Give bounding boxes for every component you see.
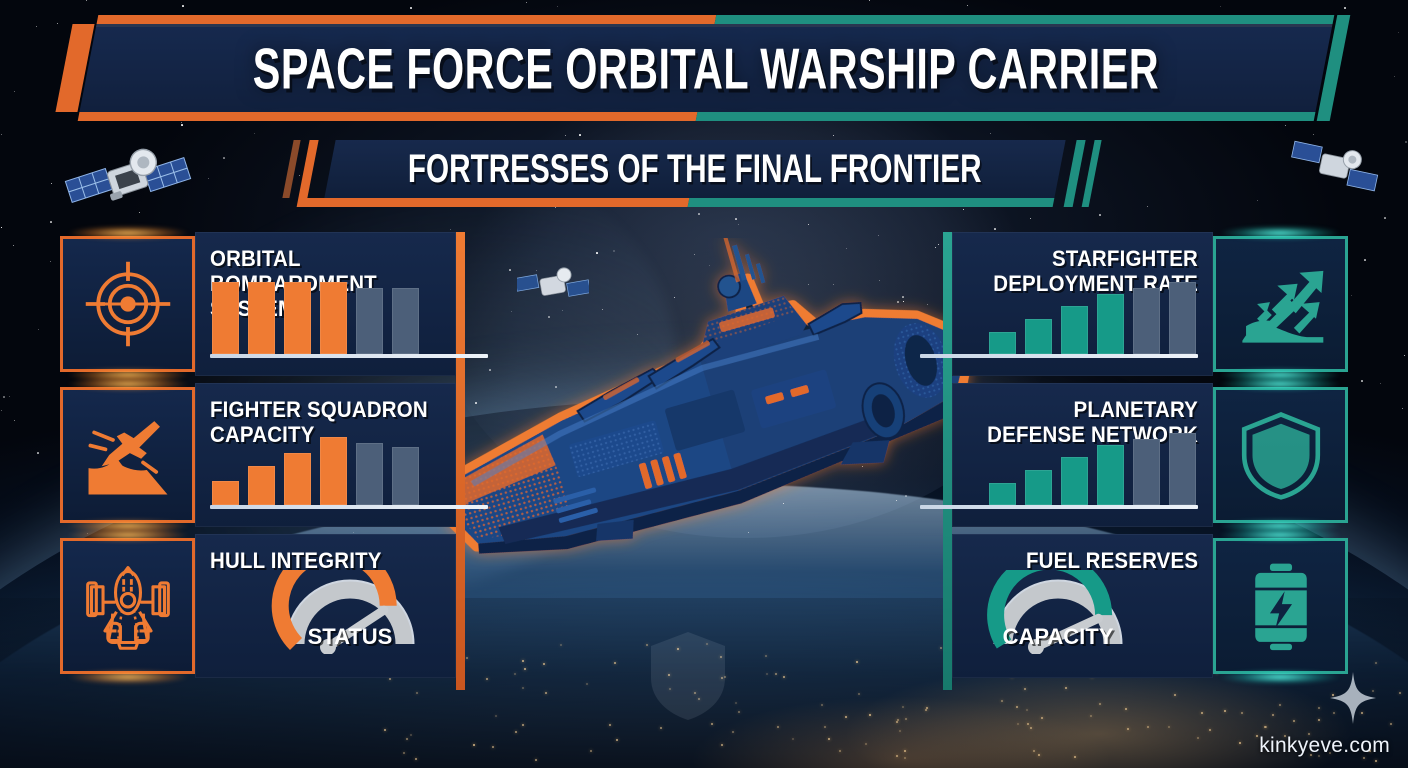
sparkle-icon xyxy=(1330,672,1376,724)
bar xyxy=(356,288,383,354)
page-subtitle-text: FORTRESSES OF THE FINAL FRONTIER xyxy=(408,146,982,192)
bar xyxy=(284,453,311,505)
bar xyxy=(989,483,1016,505)
bar xyxy=(248,466,275,505)
bar xyxy=(1025,470,1052,505)
bar xyxy=(356,443,383,505)
gauge-label-wrap-hull-integrity: STATUS xyxy=(270,566,430,648)
icon-box-shield-icon[interactable] xyxy=(1213,387,1348,523)
bar xyxy=(1133,288,1160,354)
bar-chart-orbital-bombardment-systems xyxy=(212,282,419,354)
bar xyxy=(1061,306,1088,354)
bar-chart-planetary-defense-network xyxy=(989,433,1196,505)
shield-badge-icon xyxy=(645,626,731,724)
battery-fuel-cell-icon xyxy=(1235,560,1327,652)
panel-fuel-reserves[interactable]: FUEL RESERVES CAPACITY xyxy=(952,534,1348,678)
spacecraft-front-icon xyxy=(80,558,176,654)
title-top-teal-bar xyxy=(715,15,1335,24)
bar xyxy=(1169,433,1196,505)
subtitle-banner: FORTRESSES OF THE FINAL FRONTIER xyxy=(324,140,1065,198)
bar-baseline xyxy=(920,354,1198,358)
right-column-accent-rail xyxy=(943,232,952,690)
bar-baseline xyxy=(210,354,488,358)
page-subtitle: FORTRESSES OF THE FINAL FRONTIER xyxy=(330,140,1060,198)
bar xyxy=(320,282,347,354)
panel-orbital-bombardment-systems[interactable]: ORBITAL BOMBARDMENT SYSTEMS xyxy=(60,232,456,376)
icon-box-battery-fuel-cell-icon[interactable] xyxy=(1213,538,1348,674)
bar xyxy=(1169,282,1196,354)
icon-box-crosshair-target-icon[interactable] xyxy=(60,236,195,372)
bar xyxy=(212,481,239,505)
icon-box-growth-arrows-icon[interactable] xyxy=(1213,236,1348,372)
gauge-label: STATUS xyxy=(270,624,430,650)
title-bottom-teal-bar xyxy=(696,112,1316,121)
bar xyxy=(1097,294,1124,354)
bar-baseline xyxy=(210,505,488,509)
satellite-icon xyxy=(62,132,194,228)
panel-planetary-defense-network[interactable]: PLANETARY DEFENSE NETWORK xyxy=(952,383,1348,527)
panel-fighter-squadron-capacity[interactable]: FIGHTER SQUADRON CAPACITY xyxy=(60,383,456,527)
bar xyxy=(1133,439,1160,505)
bar xyxy=(1025,319,1052,354)
bar xyxy=(248,282,275,354)
watermark: kinkyeve.com xyxy=(1259,734,1390,758)
satellite-icon xyxy=(1288,136,1380,202)
title-banner: SPACE FORCE ORBITAL WARSHIP CARRIER xyxy=(79,24,1332,112)
icon-box-fighter-jet-icon[interactable] xyxy=(60,387,195,523)
bar xyxy=(212,282,239,354)
icon-box-spacecraft-front-icon[interactable] xyxy=(60,538,195,674)
gauge-label: CAPACITY xyxy=(978,624,1138,650)
panel-starfighter-deployment-rate[interactable]: STARFIGHTER DEPLOYMENT RATE xyxy=(952,232,1348,376)
bar-baseline xyxy=(920,505,1198,509)
title-top-orange-bar xyxy=(97,15,717,24)
page-title-text: SPACE FORCE ORBITAL WARSHIP CARRIER xyxy=(253,34,1159,101)
bar-chart-fighter-squadron-capacity xyxy=(212,433,419,505)
subtitle-bottom-teal-bar xyxy=(688,198,1055,207)
bar-chart-starfighter-deployment-rate xyxy=(989,282,1196,354)
page-title: SPACE FORCE ORBITAL WARSHIP CARRIER xyxy=(88,24,1324,112)
growth-arrows-icon xyxy=(1235,258,1327,350)
left-column-accent-rail xyxy=(456,232,465,690)
bar xyxy=(320,437,347,505)
crosshair-target-icon xyxy=(80,256,176,352)
orbital-warship-carrier-illustration xyxy=(415,238,995,588)
bar xyxy=(284,282,311,354)
panel-hull-integrity[interactable]: HULL INTEGRITY STATUS xyxy=(60,534,456,678)
shield-icon xyxy=(1235,409,1327,501)
bar xyxy=(392,447,419,505)
subtitle-bottom-orange-bar xyxy=(297,198,690,207)
title-bottom-orange-bar xyxy=(78,112,698,121)
gauge-label-wrap-fuel-reserves: CAPACITY xyxy=(978,566,1138,648)
bar xyxy=(989,332,1016,354)
bar xyxy=(1097,445,1124,505)
bar xyxy=(392,288,419,354)
fighter-jet-icon xyxy=(81,408,175,502)
bar xyxy=(1061,457,1088,505)
